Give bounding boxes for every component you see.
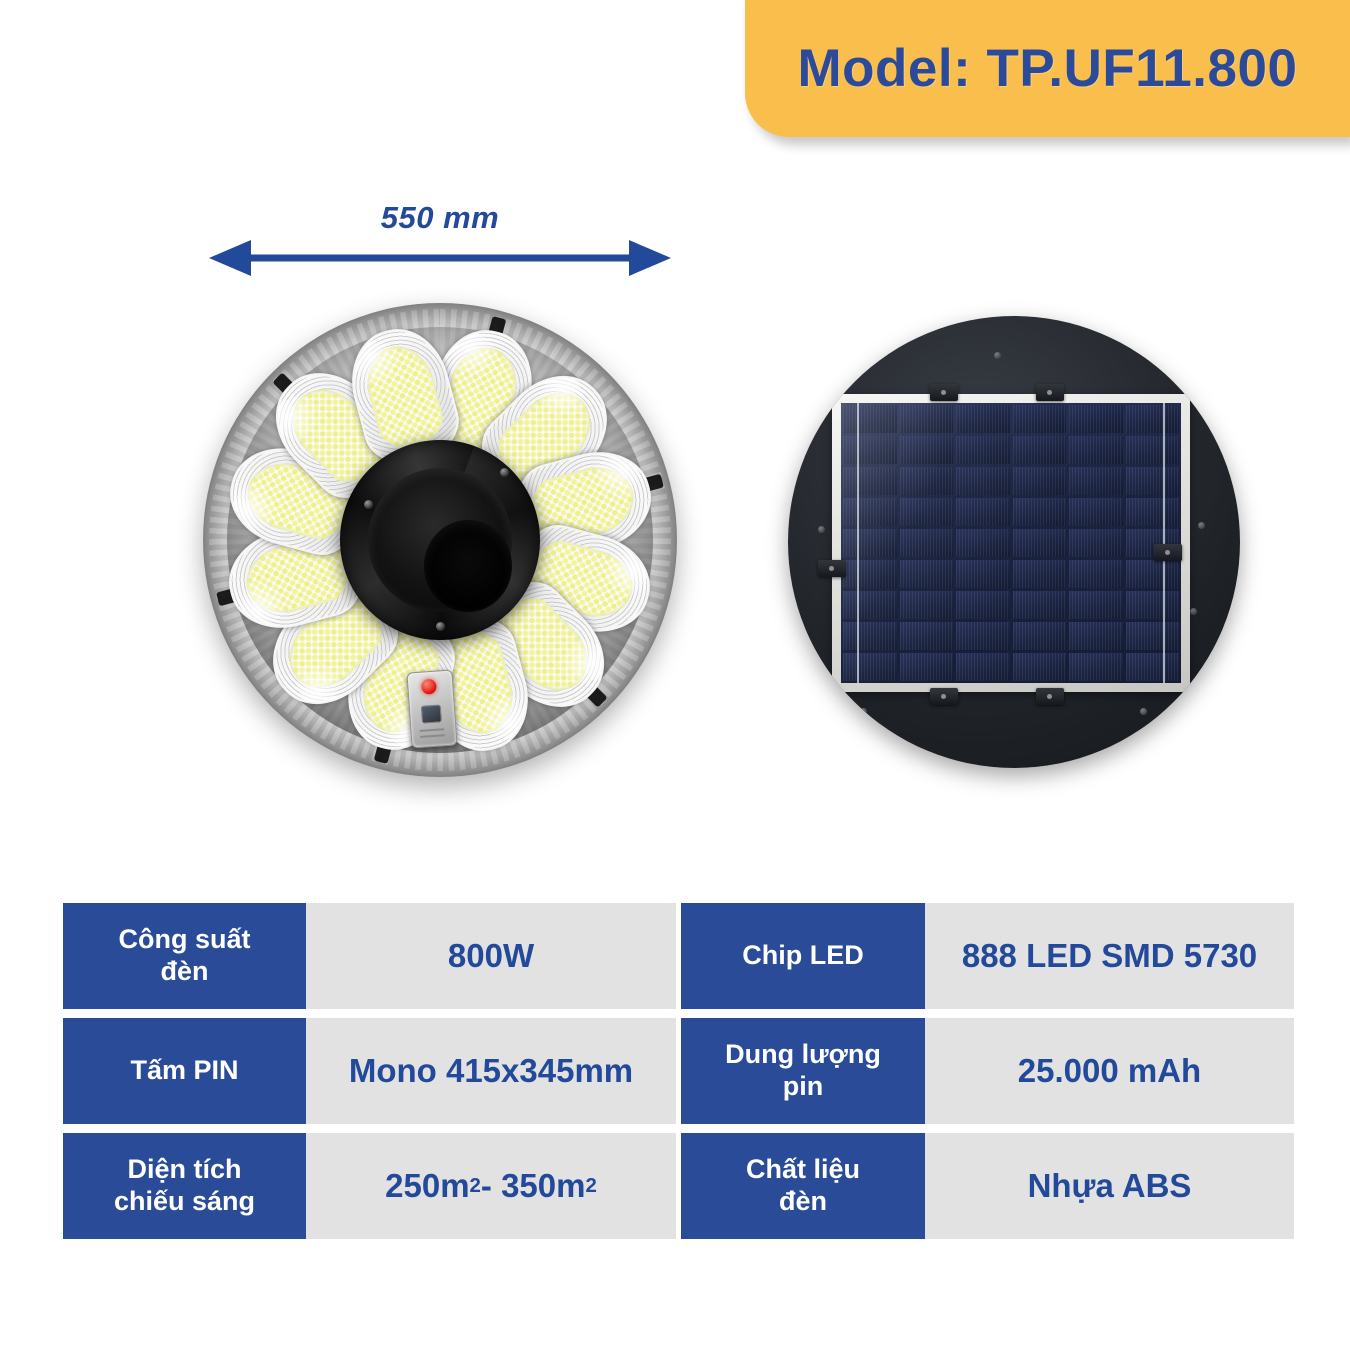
solar-cell <box>900 622 954 650</box>
hub-screw <box>364 500 373 509</box>
vent-slot <box>420 734 445 738</box>
disc-screw <box>818 526 825 533</box>
spec-key: Chip LED <box>681 903 925 1009</box>
disc-screw <box>1198 522 1205 529</box>
disc-screw <box>994 352 1001 359</box>
solar-cell <box>843 653 897 681</box>
mounting-clip <box>930 688 958 705</box>
solar-cell <box>843 467 897 495</box>
spec-row: Chất liệuđènNhựa ABS <box>681 1133 1294 1239</box>
solar-cell <box>900 653 954 681</box>
solar-cell <box>1126 591 1180 619</box>
spec-value: 800W <box>306 903 676 1009</box>
solar-cell <box>1013 436 1067 464</box>
solar-cell <box>956 529 1010 557</box>
spec-value: Nhựa ABS <box>925 1133 1294 1239</box>
spec-value: 250m2- 350m2 <box>306 1133 676 1239</box>
solar-cell <box>1126 653 1180 681</box>
solar-cell <box>843 529 897 557</box>
solar-cell <box>1126 436 1180 464</box>
solar-cell-column <box>1069 405 1123 681</box>
solar-cell <box>900 591 954 619</box>
disc-screw <box>860 708 867 715</box>
solar-cell <box>843 498 897 526</box>
spec-key: Tấm PIN <box>63 1018 306 1124</box>
lamp-housing <box>203 303 677 777</box>
solar-cell <box>1069 467 1123 495</box>
spec-value: 888 LED SMD 5730 <box>925 903 1294 1009</box>
solar-cell <box>900 498 954 526</box>
solar-cell <box>900 560 954 588</box>
spec-table-right: Chip LED888 LED SMD 5730Dung lượngpin25.… <box>681 903 1294 1239</box>
solar-cell <box>1069 405 1123 433</box>
solar-cell <box>843 436 897 464</box>
solar-cell <box>1013 591 1067 619</box>
lamp-center-hub <box>340 440 540 640</box>
product-spec-page: Model: TP.UF11.800 550 mm <box>0 0 1350 1350</box>
disc-screw <box>1190 608 1197 615</box>
mounting-clip <box>1036 384 1064 401</box>
busbar <box>1163 403 1165 683</box>
spec-key: Công suấtđèn <box>63 903 306 1009</box>
solar-cell <box>900 467 954 495</box>
solar-cell <box>1069 498 1123 526</box>
solar-cell <box>900 405 954 433</box>
solar-panel-glass <box>841 403 1181 683</box>
spec-row: Tấm PINMono 415x345mm <box>63 1018 676 1124</box>
solar-cell <box>956 467 1010 495</box>
sensor-window <box>421 704 442 723</box>
solar-cell <box>1013 405 1067 433</box>
solar-backing-disc <box>788 316 1240 768</box>
solar-panel-frame <box>832 394 1190 692</box>
solar-cell <box>1126 560 1180 588</box>
solar-cell <box>843 405 897 433</box>
solar-cell <box>1013 622 1067 650</box>
solar-cell <box>1013 529 1067 557</box>
spec-key: Dung lượngpin <box>681 1018 925 1124</box>
solar-cell <box>1126 498 1180 526</box>
solar-cell <box>1069 560 1123 588</box>
busbar <box>857 403 859 683</box>
solar-cell <box>1069 591 1123 619</box>
spec-row: Dung lượngpin25.000 mAh <box>681 1018 1294 1124</box>
solar-cell-column <box>843 405 897 681</box>
disc-screw <box>1140 708 1147 715</box>
spec-key: Diện tíchchiếu sáng <box>63 1133 306 1239</box>
solar-cell <box>843 622 897 650</box>
control-panel-module <box>406 669 457 748</box>
solar-cell <box>1013 467 1067 495</box>
solar-cell-column <box>1013 405 1067 681</box>
solar-cell <box>1069 622 1123 650</box>
double-arrow-horizontal-icon <box>205 240 675 276</box>
dimension-annotation: 550 mm <box>205 200 675 280</box>
solar-cell-column <box>956 405 1010 681</box>
solar-cell-grid <box>841 403 1181 683</box>
lamp-product-image <box>203 303 677 777</box>
solar-cell <box>843 591 897 619</box>
spec-value: 25.000 mAh <box>925 1018 1294 1124</box>
solar-panel-image <box>788 316 1240 768</box>
solar-cell <box>1126 405 1180 433</box>
mounting-clip <box>1154 544 1182 561</box>
solar-cell <box>900 529 954 557</box>
dimension-label: 550 mm <box>205 200 675 236</box>
hub-screw <box>500 468 509 477</box>
solar-cell-column <box>1126 405 1180 681</box>
solar-cell <box>1069 529 1123 557</box>
spec-row: Công suấtđèn800W <box>63 903 676 1009</box>
model-banner: Model: TP.UF11.800 <box>745 0 1350 137</box>
solar-cell <box>1069 436 1123 464</box>
solar-cell <box>1013 560 1067 588</box>
power-indicator-icon <box>421 679 437 695</box>
solar-cell <box>956 560 1010 588</box>
mounting-clip <box>818 560 846 577</box>
spec-key: Chất liệuđèn <box>681 1133 925 1239</box>
solar-cell <box>956 405 1010 433</box>
hub-screw <box>436 622 445 631</box>
spec-value: Mono 415x345mm <box>306 1018 676 1124</box>
solar-cell <box>1013 498 1067 526</box>
solar-cell <box>1013 653 1067 681</box>
spec-row: Diện tíchchiếu sáng250m2- 350m2 <box>63 1133 676 1239</box>
solar-cell <box>1069 653 1123 681</box>
solar-cell <box>956 591 1010 619</box>
spec-row: Chip LED888 LED SMD 5730 <box>681 903 1294 1009</box>
solar-cell <box>956 622 1010 650</box>
solar-cell <box>956 498 1010 526</box>
solar-cell <box>956 436 1010 464</box>
solar-cell <box>843 560 897 588</box>
solar-cell <box>1126 622 1180 650</box>
mounting-clip <box>1036 688 1064 705</box>
model-label: Model: TP.UF11.800 <box>798 38 1298 99</box>
hub-aperture <box>424 520 512 612</box>
solar-cell <box>1126 467 1180 495</box>
solar-cell-column <box>900 405 954 681</box>
mounting-clip <box>930 384 958 401</box>
solar-cell <box>956 653 1010 681</box>
spec-table-left: Công suấtđèn800WTấm PINMono 415x345mmDiệ… <box>63 903 676 1239</box>
solar-cell <box>900 436 954 464</box>
vent-slot <box>419 728 444 732</box>
hub-inner-cone <box>368 468 512 612</box>
